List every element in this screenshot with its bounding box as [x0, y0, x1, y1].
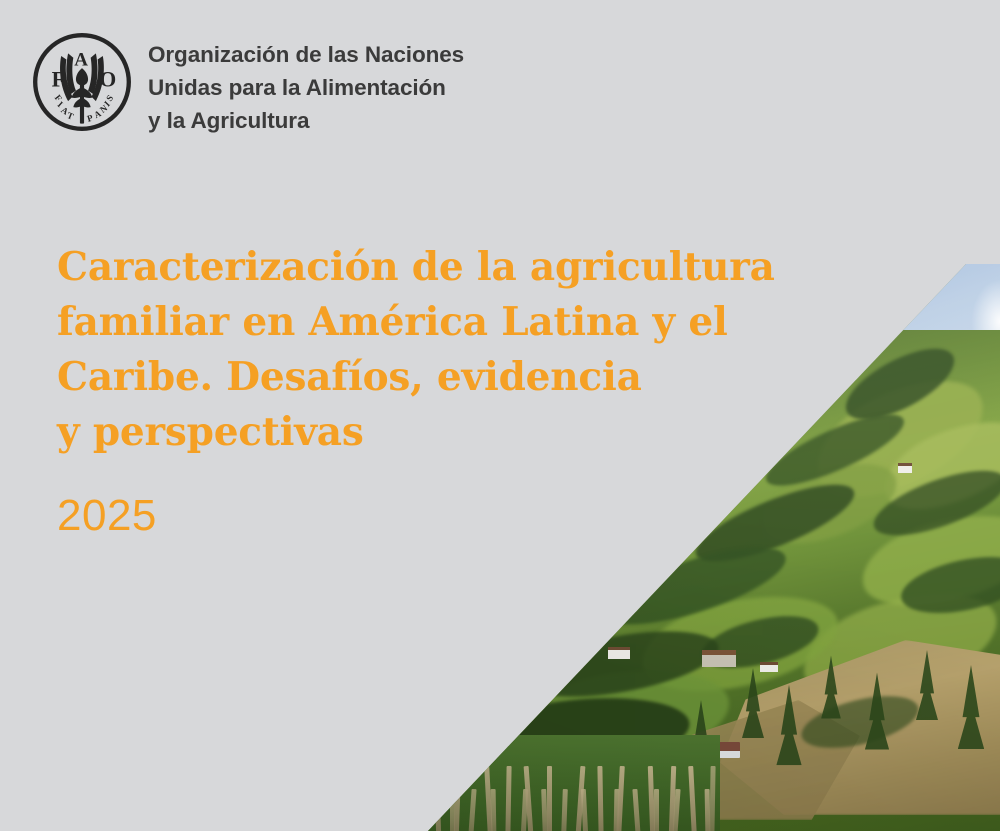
fao-branding-header: F A O F I A T P A N I S Organización de …	[30, 30, 464, 137]
crop-stake	[581, 789, 588, 831]
farmhouse	[608, 650, 630, 659]
farmhouse	[702, 655, 736, 667]
crop-stake	[654, 789, 659, 831]
crop-stake	[616, 766, 625, 831]
svg-text:A: A	[74, 50, 88, 71]
crop-stake	[632, 789, 640, 831]
farmhouse	[760, 665, 778, 672]
page-title: Caracterización de la agricultura famili…	[57, 240, 887, 460]
crop-stake	[547, 766, 552, 831]
publication-year: 2025	[57, 493, 157, 539]
crop-stake	[454, 766, 461, 831]
crop-stake	[709, 766, 715, 831]
farmhouse	[898, 466, 912, 473]
foreground-crop-field	[420, 735, 720, 831]
crop-stake	[469, 789, 477, 831]
svg-text:F: F	[52, 67, 65, 91]
crop-stake	[688, 766, 697, 831]
crop-stake	[506, 766, 512, 831]
organization-name: Organización de las Naciones Unidas para…	[148, 30, 464, 137]
crop-stake	[433, 766, 440, 831]
fao-logo-icon: F A O F I A T P A N I S	[30, 30, 134, 134]
title-block: Caracterización de la agricultura famili…	[57, 240, 887, 460]
crop-stake	[561, 789, 568, 831]
crop-stake	[490, 789, 496, 831]
svg-text:O: O	[99, 67, 116, 91]
crop-stake	[417, 789, 425, 831]
crop-stake	[597, 766, 603, 831]
fao-publication-cover: F A O F I A T P A N I S Organización de …	[0, 0, 1000, 831]
